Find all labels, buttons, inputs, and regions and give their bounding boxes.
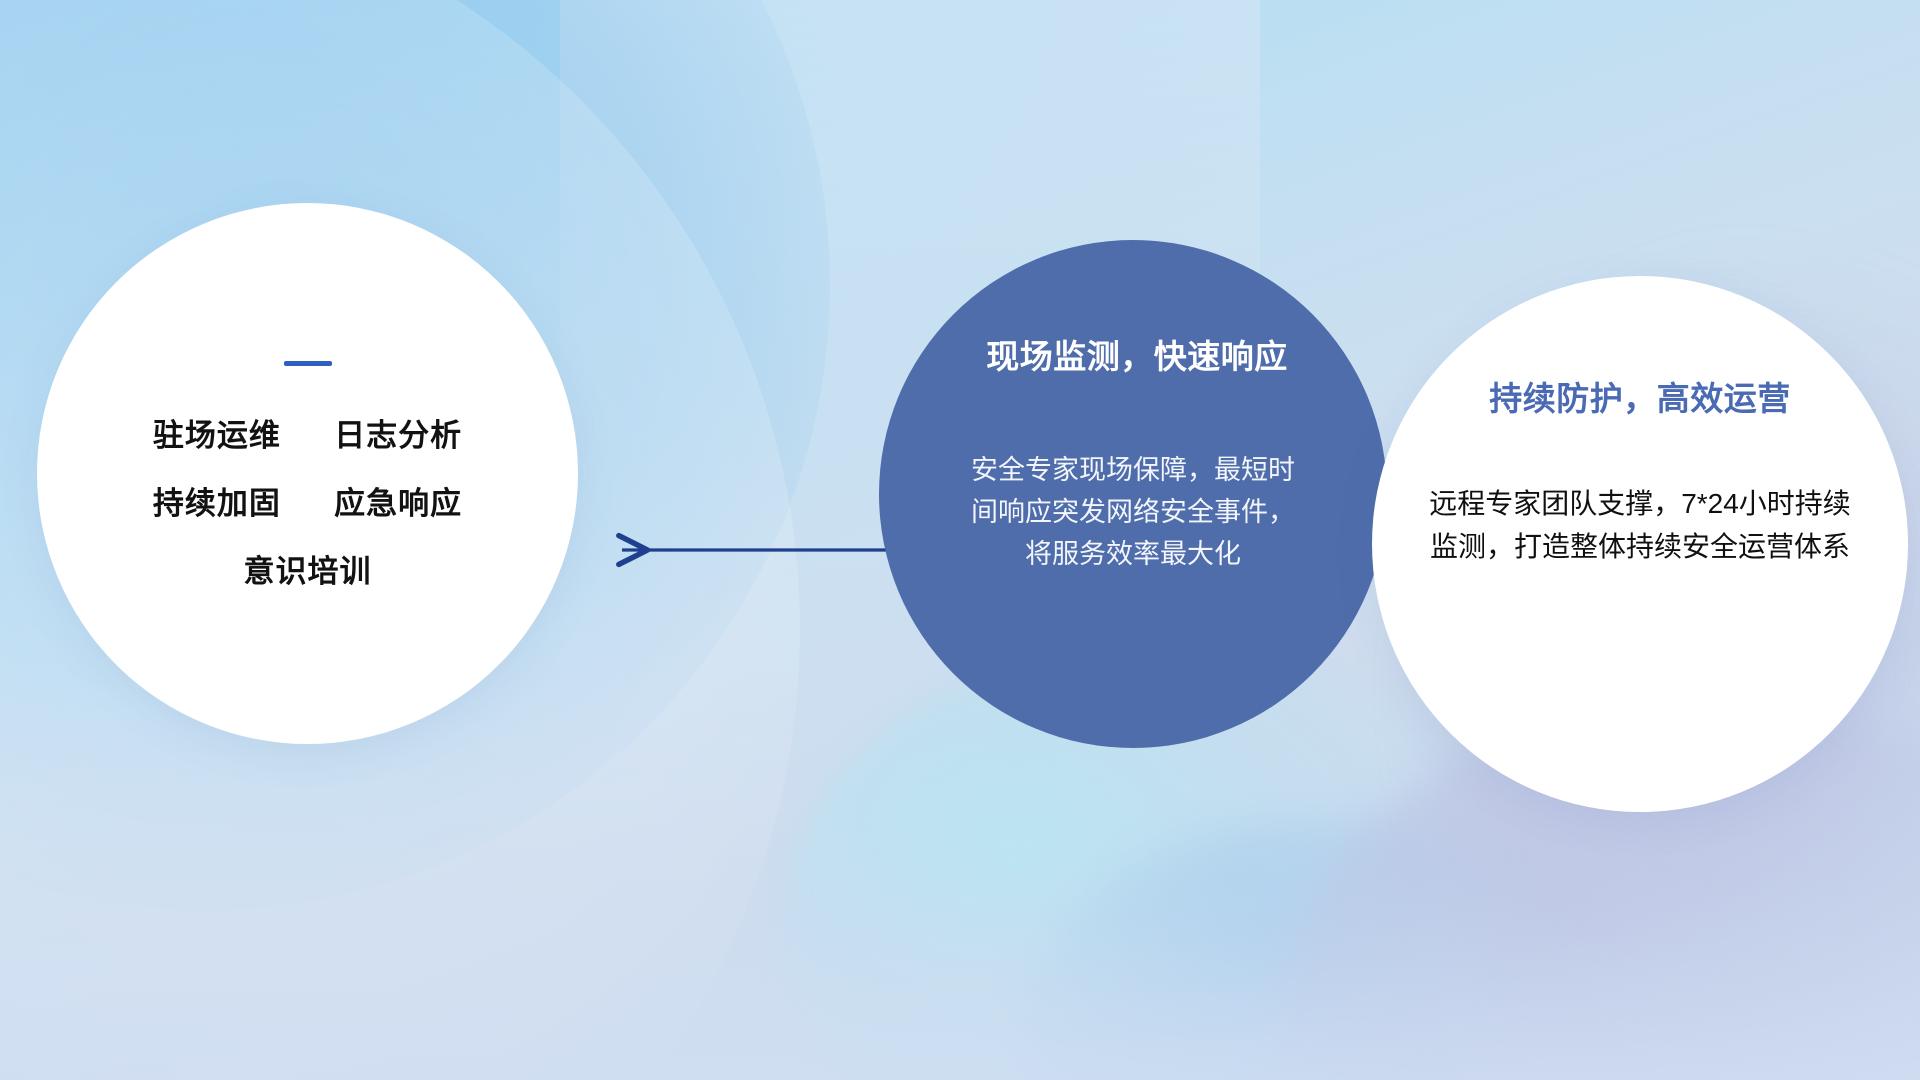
capability-awareness-training: 意识培训 — [244, 554, 372, 589]
capability-circle-middle[interactable]: 现场监测，快速响应 安全专家现场保障，最短时间响应突发网络安全事件，将服务效率最… — [879, 240, 1387, 748]
capability-circle-right[interactable]: 持续防护，高效运营 远程专家团队支撑，7*24小时持续监测，打造整体持续安全运营… — [1372, 276, 1908, 812]
capability-row-1: 驻场运维 日志分析 — [153, 420, 462, 451]
capability-emergency-response: 应急响应 — [334, 486, 462, 521]
right-circle-title: 持续防护，高效运营 — [1489, 372, 1791, 420]
capability-log-analysis: 日志分析 — [334, 418, 462, 453]
arrow-connector-left — [608, 520, 908, 580]
middle-circle-title: 现场监测，快速响应 — [986, 330, 1288, 378]
background-teal-wedge — [1020, 820, 1640, 1080]
capability-continuous-hardening: 持续加固 — [153, 486, 281, 521]
slide-canvas: 驻场运维 日志分析 持续加固 应急响应 意识培训 现场监测，快速响应 安全专家现… — [0, 0, 1920, 1080]
divider-rule — [284, 361, 332, 366]
capability-row-2: 持续加固 应急响应 — [153, 488, 462, 519]
capability-row-3: 意识培训 — [244, 556, 372, 587]
capability-circle-left[interactable]: 驻场运维 日志分析 持续加固 应急响应 意识培训 — [37, 203, 578, 744]
right-circle-body: 远程专家团队支撑，7*24小时持续监测，打造整体持续安全运营体系 — [1425, 482, 1855, 569]
capability-onsite-ops: 驻场运维 — [153, 418, 281, 453]
middle-circle-body: 安全专家现场保障，最短时间响应突发网络安全事件，将服务效率最大化 — [968, 450, 1298, 576]
